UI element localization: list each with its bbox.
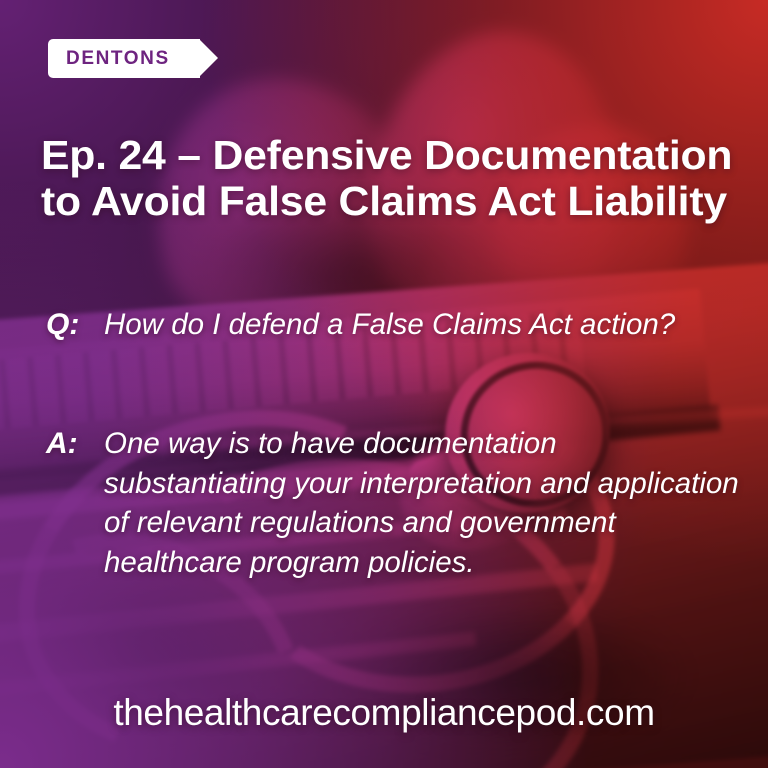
question-text: How do I defend a False Claims Act actio…	[104, 305, 746, 345]
dentons-logo[interactable]: DENTONS	[48, 39, 200, 78]
question-block: Q: How do I defend a False Claims Act ac…	[46, 305, 746, 345]
question-label: Q:	[46, 305, 104, 345]
dentons-logo-text: DENTONS	[66, 49, 170, 68]
answer-block: A: One way is to have documentation subs…	[46, 424, 746, 583]
episode-title: Ep. 24 – Defensive Documentation to Avoi…	[41, 133, 768, 225]
podcast-promo-card: DENTONS Ep. 24 – Defensive Documentation…	[0, 0, 768, 768]
answer-label: A:	[46, 424, 104, 464]
dentons-logo-badge: DENTONS	[48, 39, 200, 78]
answer-text: One way is to have documentation substan…	[104, 424, 746, 583]
podcast-website-url[interactable]: thehealthcarecompliancepod.com	[0, 694, 768, 731]
card-content: DENTONS Ep. 24 – Defensive Documentation…	[0, 0, 768, 768]
